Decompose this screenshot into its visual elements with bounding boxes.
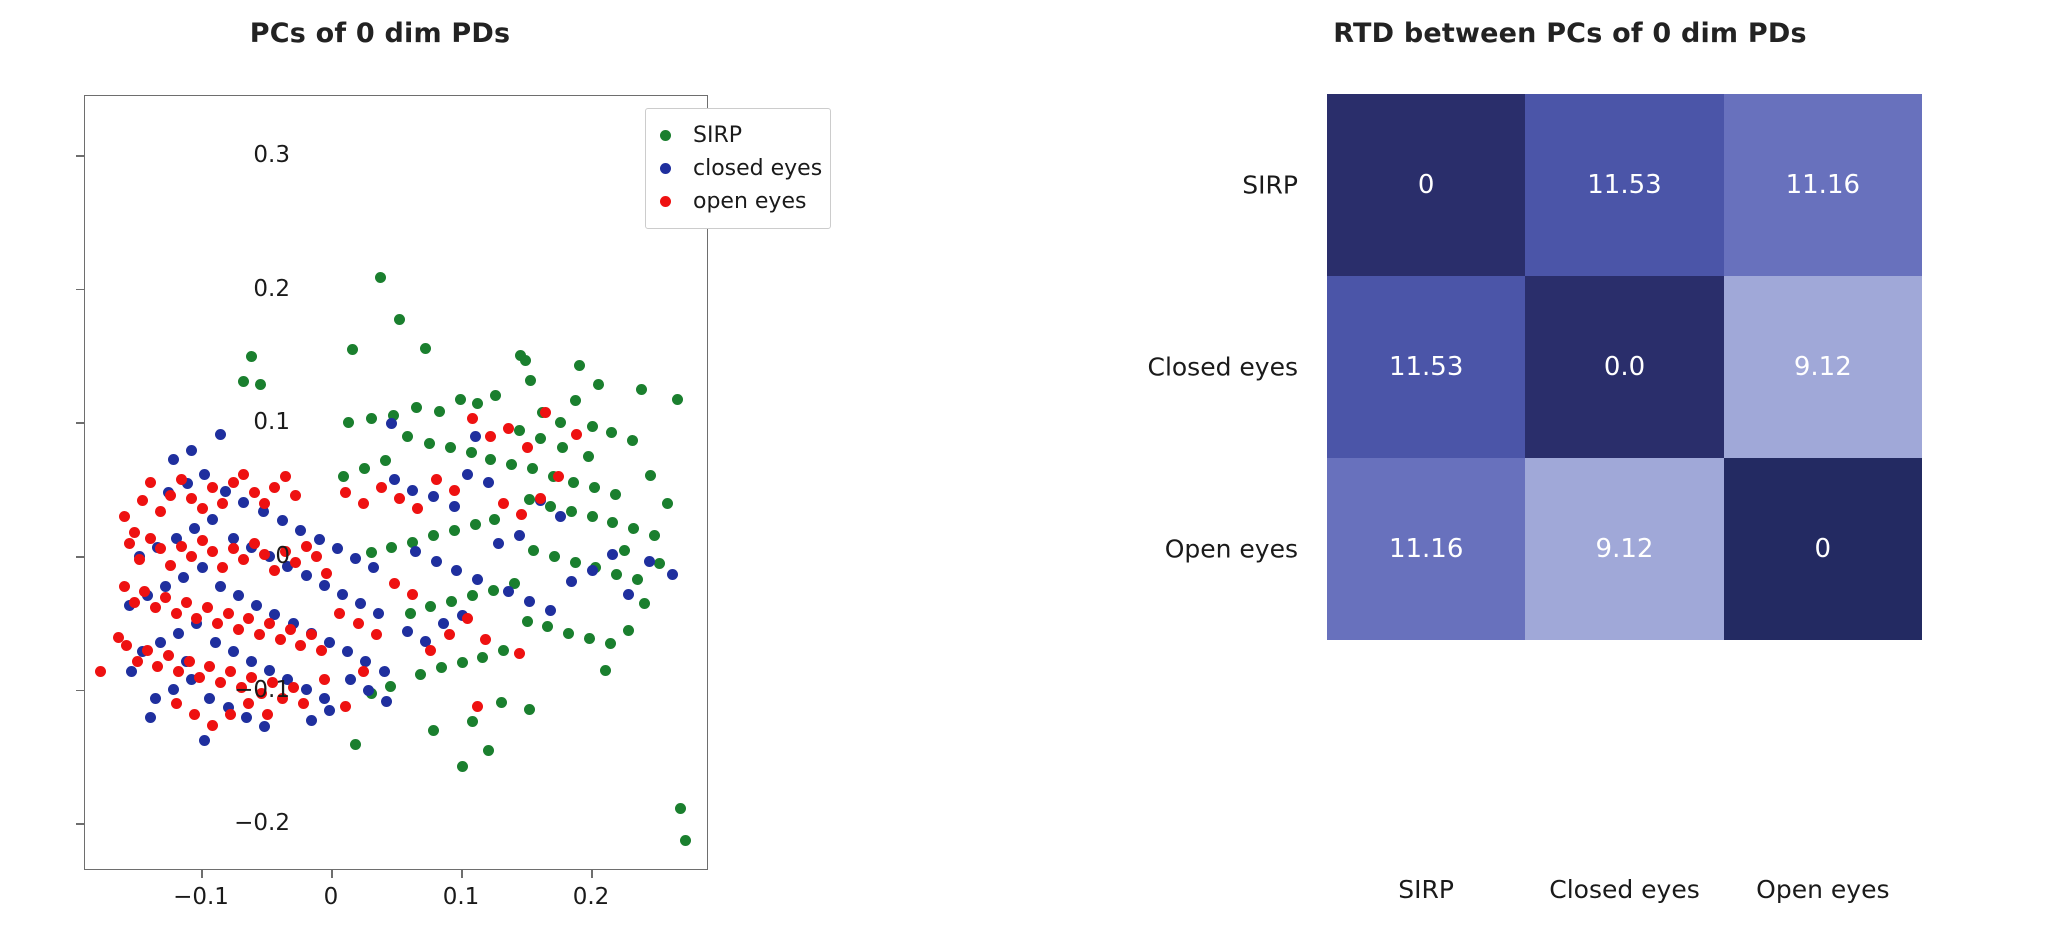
scatter-point	[457, 761, 468, 772]
y-tick-mark	[76, 556, 84, 558]
y-tick-label: 0	[200, 543, 290, 569]
scatter-point	[215, 581, 226, 592]
scatter-point	[379, 666, 390, 677]
scatter-point	[280, 471, 291, 482]
scatter-point	[524, 494, 535, 505]
scatter-point	[217, 498, 228, 509]
scatter-point	[373, 608, 384, 619]
scatter-point	[649, 530, 660, 541]
scatter-point	[522, 616, 533, 627]
scatter-point	[338, 471, 349, 482]
scatter-point	[467, 716, 478, 727]
scatter-point	[228, 477, 239, 488]
scatter-point	[165, 560, 176, 571]
scatter-point	[607, 517, 618, 528]
scatter-point	[514, 425, 525, 436]
scatter-point	[402, 626, 413, 637]
scatter-point	[189, 523, 200, 534]
heatmap-cell[interactable]: 0.0	[1525, 276, 1723, 458]
scatter-point	[129, 527, 140, 538]
scatter-point	[119, 511, 130, 522]
scatter-point	[680, 835, 691, 846]
scatter-point	[145, 533, 156, 544]
scatter-point	[199, 735, 210, 746]
scatter-point	[498, 498, 509, 509]
scatter-point	[238, 376, 249, 387]
scatter-point	[571, 429, 582, 440]
scatter-point	[254, 629, 265, 640]
legend-item[interactable]: SIRP	[660, 119, 818, 152]
heatmap-cell[interactable]: 0	[1724, 458, 1922, 640]
scatter-point	[607, 549, 618, 560]
scatter-point	[412, 503, 423, 514]
x-tick-mark	[331, 870, 333, 878]
scatter-point	[155, 506, 166, 517]
scatter-point	[228, 646, 239, 657]
scatter-point	[306, 715, 317, 726]
scatter-point	[611, 569, 622, 580]
scatter-point	[593, 379, 604, 390]
scatter-point	[386, 542, 397, 553]
scatter-point	[275, 634, 286, 645]
scatter-point	[359, 463, 370, 474]
heatmap-title: RTD between PCs of 0 dim PDs	[1170, 18, 1970, 49]
scatter-point	[438, 618, 449, 629]
scatter-point	[337, 589, 348, 600]
scatter-point	[483, 477, 494, 488]
scatter-point	[489, 514, 500, 525]
scatter-point	[514, 530, 525, 541]
scatter-point	[410, 546, 421, 557]
scatter-point	[385, 681, 396, 692]
scatter-point	[483, 745, 494, 756]
scatter-point	[524, 704, 535, 715]
scatter-point	[207, 720, 218, 731]
heatmap-panel: RTD between PCs of 0 dim PDs 011.5311.16…	[1000, 0, 2065, 938]
scatter-point	[334, 608, 345, 619]
scatter-point	[524, 596, 535, 607]
y-tick-mark	[76, 690, 84, 692]
heatmap-cell[interactable]: 9.12	[1724, 276, 1922, 458]
scatter-point	[119, 581, 130, 592]
scatter-point	[142, 645, 153, 656]
scatter-point	[470, 519, 481, 530]
scatter-point	[233, 590, 244, 601]
scatter-point	[555, 417, 566, 428]
scatter-point	[485, 454, 496, 465]
scatter-point	[165, 490, 176, 501]
scatter-point	[124, 538, 135, 549]
scatter-point	[168, 684, 179, 695]
scatter-point	[371, 629, 382, 640]
scatter-point	[535, 433, 546, 444]
scatter-point	[290, 490, 301, 501]
heatmap-row-label: Closed eyes	[998, 353, 1298, 382]
scatter-point	[340, 487, 351, 498]
heatmap-cell[interactable]: 9.12	[1525, 458, 1723, 640]
scatter-point	[535, 493, 546, 504]
scatter-point	[168, 454, 179, 465]
scatter-point	[176, 474, 187, 485]
heatmap-row-label: Open eyes	[998, 535, 1298, 564]
scatter-point	[155, 543, 166, 554]
scatter-point	[394, 314, 405, 325]
scatter-point	[342, 646, 353, 657]
scatter-point	[173, 628, 184, 639]
scatter-point	[132, 656, 143, 667]
scatter-point	[498, 645, 509, 656]
scatter-point	[605, 638, 616, 649]
scatter-point	[455, 394, 466, 405]
scatter-point	[360, 656, 371, 667]
scatter-point	[171, 608, 182, 619]
scatter-point	[420, 343, 431, 354]
legend-marker-icon	[660, 130, 671, 141]
y-tick-mark	[76, 823, 84, 825]
scatter-point	[394, 493, 405, 504]
x-tick-label: 0.2	[573, 884, 610, 910]
scatter-point	[319, 674, 330, 685]
scatter-plot-title: PCs of 0 dim PDs	[0, 18, 760, 49]
scatter-point	[246, 351, 257, 362]
scatter-point	[428, 530, 439, 541]
scatter-point	[207, 482, 218, 493]
scatter-point	[425, 601, 436, 612]
scatter-point	[628, 523, 639, 534]
scatter-point	[285, 624, 296, 635]
scatter-point	[197, 503, 208, 514]
scatter-point	[173, 666, 184, 677]
scatter-point	[563, 628, 574, 639]
scatter-point	[155, 637, 166, 648]
scatter-point	[150, 602, 161, 613]
legend-marker-icon	[660, 163, 671, 174]
y-tick-label: −0.1	[200, 677, 290, 703]
scatter-point	[319, 580, 330, 591]
scatter-point	[264, 618, 275, 629]
scatter-point	[568, 477, 579, 488]
y-tick-mark	[76, 155, 84, 157]
scatter-point	[516, 509, 527, 520]
scatter-point	[407, 589, 418, 600]
scatter-point	[662, 498, 673, 509]
scatter-point	[425, 645, 436, 656]
scatter-point	[262, 709, 273, 720]
scatter-point	[472, 398, 483, 409]
scatter-point	[472, 701, 483, 712]
scatter-point	[570, 395, 581, 406]
heatmap-grid: 011.5311.1611.530.09.1211.169.120	[1327, 94, 1922, 640]
scatter-point	[316, 645, 327, 656]
scatter-point	[545, 501, 556, 512]
plot-frame	[84, 95, 708, 870]
scatter-point	[238, 469, 249, 480]
heatmap-column-label: Closed eyes	[1549, 875, 1700, 904]
scatter-point	[321, 568, 332, 579]
x-tick-mark	[591, 870, 593, 878]
scatter-point	[350, 553, 361, 564]
scatter-point	[490, 390, 501, 401]
scatter-point	[639, 598, 650, 609]
x-tick-label: 0.1	[443, 884, 480, 910]
scatter-point	[160, 592, 171, 603]
scatter-point	[503, 423, 514, 434]
scatter-point	[186, 493, 197, 504]
scatter-point	[251, 600, 262, 611]
scatter-point	[457, 657, 468, 668]
legend-item-label: SIRP	[693, 123, 742, 148]
scatter-point	[259, 498, 270, 509]
x-tick-label: 0	[324, 884, 339, 910]
scatter-point	[340, 701, 351, 712]
scatter-point	[189, 709, 200, 720]
scatter-point	[587, 511, 598, 522]
scatter-point	[610, 489, 621, 500]
scatter-point	[255, 379, 266, 390]
scatter-point	[301, 684, 312, 695]
scatter-point	[584, 633, 595, 644]
scatter-point	[389, 474, 400, 485]
scatter-point	[137, 495, 148, 506]
scatter-point	[126, 666, 137, 677]
heatmap-cell[interactable]: 11.53	[1525, 94, 1723, 276]
scatter-point	[488, 585, 499, 596]
scatter-point	[368, 562, 379, 573]
legend-marker-icon	[660, 196, 671, 207]
scatter-point	[319, 693, 330, 704]
scatter-point	[545, 605, 556, 616]
scatter-point	[542, 621, 553, 632]
scatter-point	[121, 640, 132, 651]
scatter-point	[566, 576, 577, 587]
scatter-point	[380, 455, 391, 466]
scatter-point	[522, 442, 533, 453]
scatter-point	[636, 384, 647, 395]
scatter-point	[171, 698, 182, 709]
scatter-point	[301, 570, 312, 581]
scatter-point	[557, 442, 568, 453]
x-tick-mark	[201, 870, 203, 878]
scatter-point	[587, 565, 598, 576]
scatter-point	[527, 463, 538, 474]
scatter-point	[178, 572, 189, 583]
scatter-point	[301, 541, 312, 552]
scatter-point	[480, 634, 491, 645]
scatter-point	[95, 666, 106, 677]
scatter-point	[375, 272, 386, 283]
scatter-points-layer	[85, 96, 707, 869]
scatter-point	[623, 589, 634, 600]
scatter-point	[264, 665, 275, 676]
scatter-point	[220, 486, 231, 497]
scatter-point	[363, 685, 374, 696]
scatter-point	[415, 669, 426, 680]
heatmap-cell[interactable]: 11.16	[1724, 94, 1922, 276]
scatter-point	[376, 482, 387, 493]
legend-item-label: closed eyes	[693, 156, 822, 181]
scatter-point	[496, 697, 507, 708]
scatter-point	[290, 557, 301, 568]
scatter-point	[358, 498, 369, 509]
scatter-point	[549, 551, 560, 562]
scatter-point	[210, 637, 221, 648]
scatter-point	[246, 656, 257, 667]
scatter-point	[202, 602, 213, 613]
scatter-point	[345, 674, 356, 685]
scatter-point	[366, 413, 377, 424]
scatter-point	[295, 640, 306, 651]
y-tick-label: 0.3	[200, 142, 290, 168]
scatter-point	[606, 427, 617, 438]
x-tick-label: −0.1	[173, 884, 229, 910]
scatter-point	[451, 565, 462, 576]
scatter-point	[477, 652, 488, 663]
scatter-point	[381, 696, 392, 707]
scatter-point	[540, 407, 551, 418]
scatter-point	[566, 506, 577, 517]
scatter-point	[186, 445, 197, 456]
scatter-point	[627, 435, 638, 446]
scatter-point	[583, 451, 594, 462]
scatter-point	[150, 693, 161, 704]
scatter-point	[207, 514, 218, 525]
scatter-point	[405, 608, 416, 619]
scatter-point	[358, 666, 369, 677]
scatter-point	[589, 482, 600, 493]
legend-item[interactable]: open eyes	[660, 185, 818, 218]
scatter-point	[145, 712, 156, 723]
scatter-point	[366, 547, 377, 558]
scatter-point	[163, 650, 174, 661]
scatter-point	[434, 406, 445, 417]
scatter-point	[553, 471, 564, 482]
scatter-point	[212, 618, 223, 629]
scatter-point	[186, 551, 197, 562]
scatter-point	[332, 543, 343, 554]
scatter-point	[343, 417, 354, 428]
scatter-point	[347, 344, 358, 355]
scatter-point	[493, 538, 504, 549]
scatter-point	[428, 491, 439, 502]
scatter-point	[225, 709, 236, 720]
scatter-point	[431, 556, 442, 567]
scatter-point	[472, 574, 483, 585]
scatter-point	[446, 596, 457, 607]
scatter-point	[424, 438, 435, 449]
scatter-point	[436, 662, 447, 673]
scatter-point	[528, 545, 539, 556]
scatter-point	[632, 574, 643, 585]
scatter-point	[181, 597, 192, 608]
scatter-point	[503, 586, 514, 597]
legend-item-label: open eyes	[693, 189, 806, 214]
heatmap-cell[interactable]: 0	[1327, 94, 1525, 276]
y-tick-label: −0.2	[200, 810, 290, 836]
scatter-point	[233, 624, 244, 635]
scatter-point	[654, 558, 665, 569]
scatter-point	[355, 598, 366, 609]
scatter-point	[467, 413, 478, 424]
scatter-point	[389, 578, 400, 589]
heatmap-row-label: SIRP	[998, 171, 1298, 200]
scatter-point	[514, 648, 525, 659]
heatmap-column-label: Open eyes	[1756, 875, 1889, 904]
scatter-point	[324, 705, 335, 716]
scatter-point	[223, 608, 234, 619]
scatter-point	[407, 485, 418, 496]
scatter-point	[311, 551, 322, 562]
scatter-point	[353, 618, 364, 629]
scatter-point	[199, 469, 210, 480]
scatter-point	[485, 431, 496, 442]
y-tick-mark	[76, 422, 84, 424]
scatter-point	[160, 581, 171, 592]
scatter-point	[644, 556, 655, 567]
scatter-point	[619, 545, 630, 556]
y-tick-label: 0.2	[200, 276, 290, 302]
scatter-point	[555, 511, 566, 522]
scatter-point	[176, 541, 187, 552]
scatter-point	[672, 394, 683, 405]
scatter-point	[277, 515, 288, 526]
scatter-point	[570, 557, 581, 568]
legend-item[interactable]: closed eyes	[660, 152, 818, 185]
scatter-point	[428, 725, 439, 736]
scatter-point	[667, 569, 678, 580]
scatter-point	[587, 421, 598, 432]
scatter-point	[506, 459, 517, 470]
scatter-point	[184, 656, 195, 667]
scatter-point	[241, 712, 252, 723]
x-tick-mark	[461, 870, 463, 878]
scatter-point	[145, 477, 156, 488]
scatter-point	[449, 501, 460, 512]
scatter-plot-panel: PCs of 0 dim PDs 0.30.20.10−0.1−0.2 −0.1…	[0, 0, 1000, 938]
scatter-point	[444, 629, 455, 640]
scatter-point	[350, 739, 361, 750]
y-tick-mark	[76, 289, 84, 291]
heatmap-column-label: SIRP	[1398, 875, 1454, 904]
y-tick-label: 0.1	[200, 409, 290, 435]
scatter-point	[402, 431, 413, 442]
scatter-point	[238, 497, 249, 508]
scatter-point	[525, 375, 536, 386]
scatter-point	[249, 487, 260, 498]
scatter-point	[411, 402, 422, 413]
scatter-point	[675, 803, 686, 814]
scatter-point	[574, 360, 585, 371]
scatter-point	[243, 613, 254, 624]
scatter-point	[466, 447, 477, 458]
scatter-legend: SIRPclosed eyesopen eyes	[645, 108, 831, 229]
scatter-point	[129, 597, 140, 608]
scatter-point	[462, 469, 473, 480]
scatter-point	[431, 474, 442, 485]
scatter-point	[645, 470, 656, 481]
scatter-point	[449, 485, 460, 496]
scatter-point	[269, 482, 280, 493]
scatter-point	[600, 665, 611, 676]
scatter-point	[386, 418, 397, 429]
scatter-point	[470, 431, 481, 442]
scatter-point	[445, 442, 456, 453]
heatmap-cell[interactable]: 11.16	[1327, 458, 1525, 640]
scatter-point	[520, 355, 531, 366]
scatter-point	[204, 661, 215, 672]
scatter-point	[314, 534, 325, 545]
heatmap-cell[interactable]: 11.53	[1327, 276, 1525, 458]
scatter-point	[462, 613, 473, 624]
